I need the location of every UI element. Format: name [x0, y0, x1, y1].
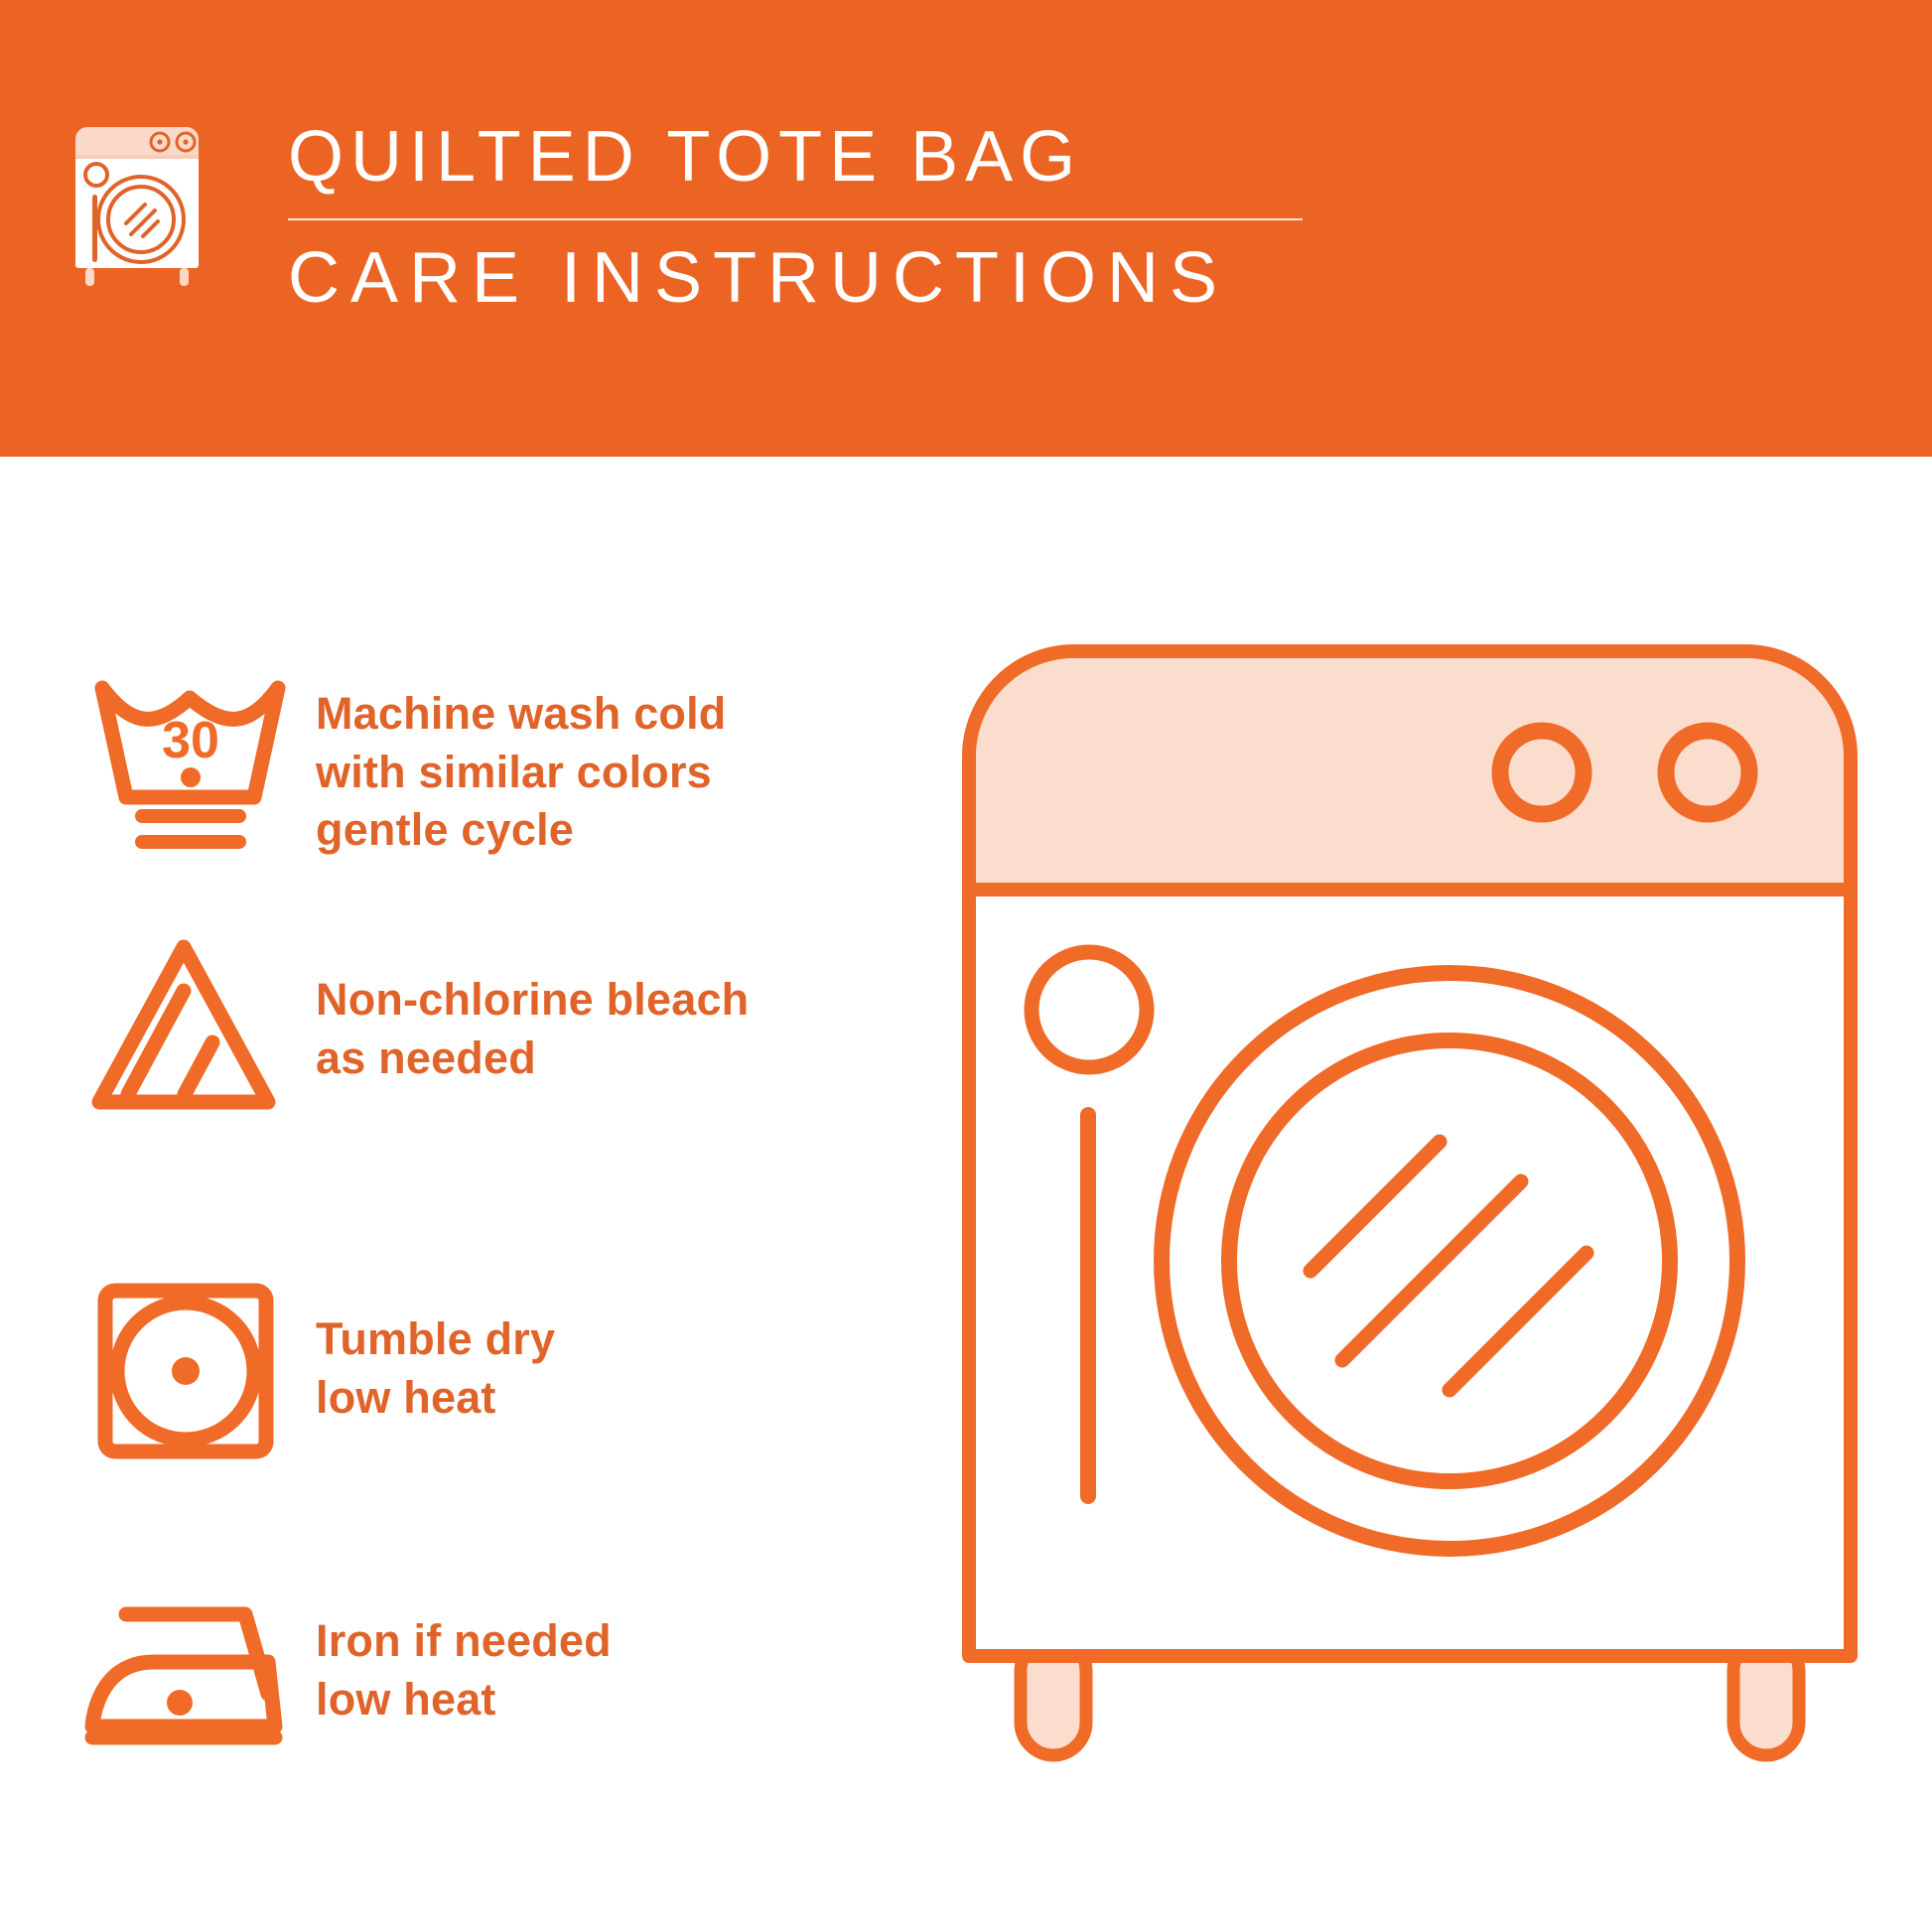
- detergent-drawer-bar: [1080, 1107, 1096, 1504]
- care-text-iron: Iron if needed low heat: [316, 1612, 782, 1728]
- tumble-dry-low-icon: [95, 1281, 276, 1461]
- page-subtitle: CARE INSTRUCTIONS: [288, 242, 1320, 314]
- title-divider: [288, 218, 1303, 220]
- iron-low-heat-icon: [79, 1590, 288, 1759]
- care-line: Machine wash cold: [316, 685, 782, 744]
- front-load-washing-machine-illustration: [953, 635, 1866, 1807]
- washing-machine-icon: [71, 117, 203, 288]
- care-line: Non-chlorine bleach: [316, 971, 782, 1030]
- care-instructions-infographic: QUILTED TOTE BAG CARE INSTRUCTIONS 30: [0, 0, 1932, 1932]
- header-text-block: QUILTED TOTE BAG CARE INSTRUCTIONS: [288, 121, 1320, 314]
- non-chlorine-bleach-triangle-icon: [87, 933, 281, 1117]
- care-line: with similar colors: [316, 744, 782, 802]
- care-text-tumble-dry: Tumble dry low heat: [316, 1311, 782, 1427]
- care-text-wash: Machine wash cold with similar colors ge…: [316, 685, 782, 860]
- care-text-bleach: Non-chlorine bleach as needed: [316, 971, 782, 1087]
- control-panel: [976, 658, 1844, 890]
- wash-tub-30-icon: 30: [87, 670, 296, 859]
- wash-temperature-label: 30: [162, 712, 219, 769]
- page-title: QUILTED TOTE BAG: [288, 121, 1320, 193]
- header-banner: QUILTED TOTE BAG CARE INSTRUCTIONS: [0, 0, 1932, 457]
- care-line: Tumble dry: [316, 1311, 782, 1369]
- care-line: Iron if needed: [316, 1612, 782, 1671]
- care-line: gentle cycle: [316, 801, 782, 860]
- care-line: as needed: [316, 1030, 782, 1088]
- care-line: low heat: [316, 1671, 782, 1729]
- care-line: low heat: [316, 1369, 782, 1428]
